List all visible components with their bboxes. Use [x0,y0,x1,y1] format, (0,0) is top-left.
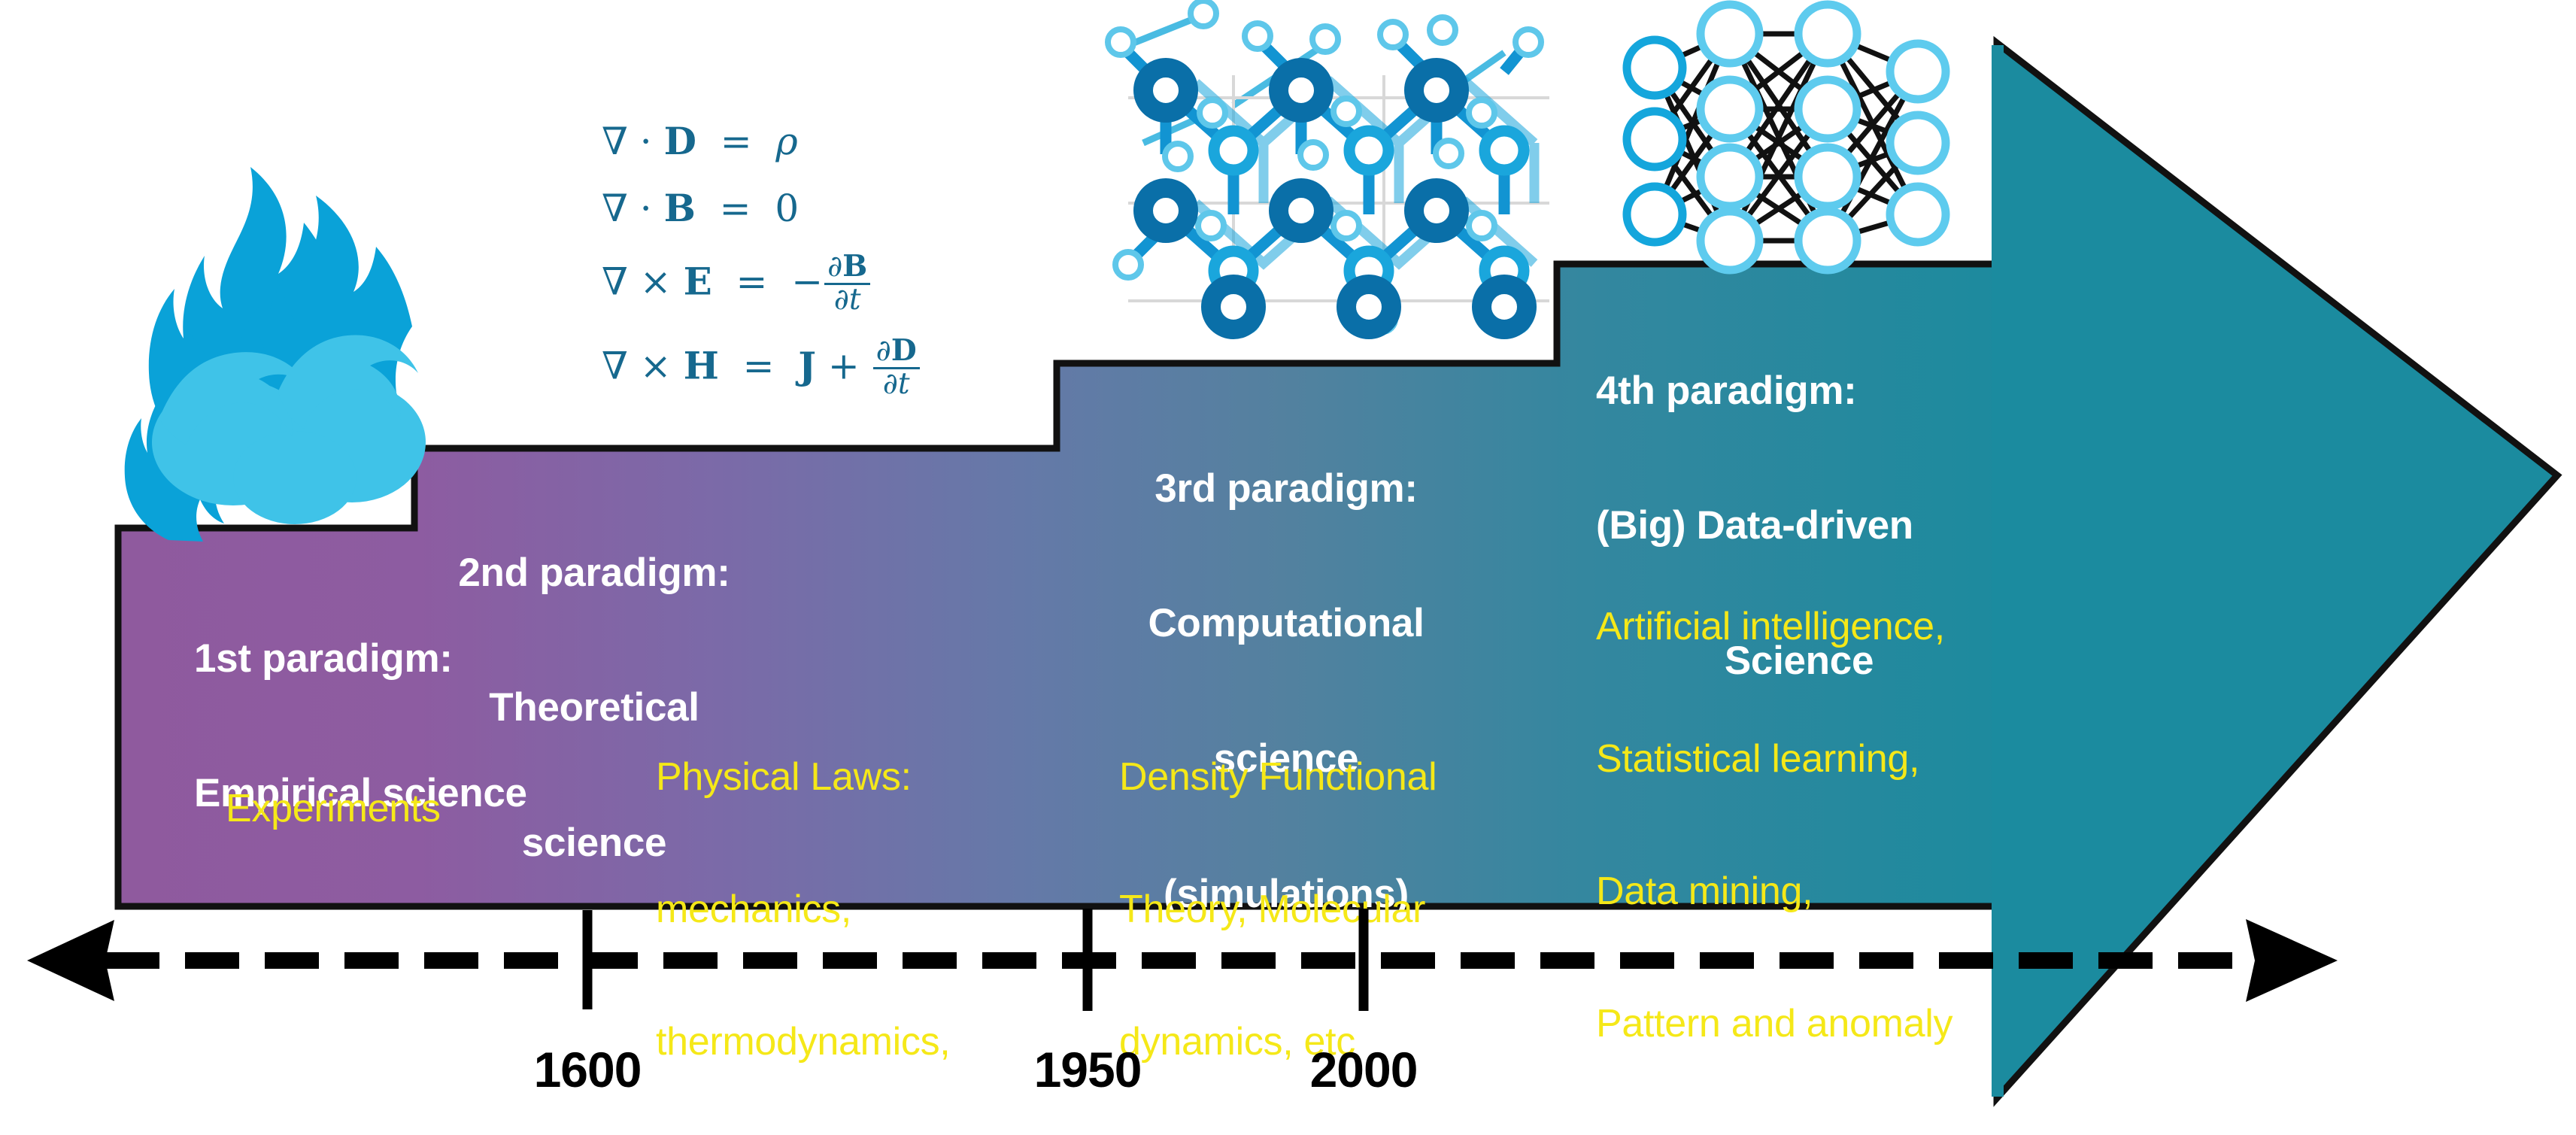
paradigm-2-body-line-1: Physical Laws: [656,755,1054,800]
paradigm-3-body-line-2: Theory, Molecular [1119,888,1548,932]
paradigm-4-body-line-3: Data mining, [1596,869,2092,914]
paradigm-3-title-line-2: Computational [1091,601,1482,646]
paradigm-4-body-line-1: Artificial intelligence, [1596,605,2092,649]
paradigm-2-body-line-3: thermodynamics, [656,1020,1054,1064]
tick-label-1600: 1600 [505,1042,670,1098]
paradigm-4-body-line-4: Pattern and anomaly [1596,1002,2092,1046]
paradigm-1-title-line-1: 1st paradigm: [194,636,472,681]
paradigm-4-body-line-2: Statistical learning, [1596,737,2092,781]
paradigm-3-body-line-1: Density Functional [1119,755,1548,800]
paradigm-4-title-line-1: 4th paradigm: [1596,369,2062,414]
tick-label-1950: 1950 [1005,1042,1170,1098]
paradigm-2-body: Physical Laws: mechanics, thermodynamics… [656,666,1054,1135]
paradigms-figure: ∇ · D = ρ ∇ · B = 0 ∇ × E = −∂B∂t ∇ × H … [0,0,2576,1135]
paradigm-3-title-line-1: 3rd paradigm: [1091,466,1482,511]
paradigm-2-body-line-2: mechanics, [656,888,1054,932]
paradigm-4-body: Artificial intelligence, Statistical lea… [1596,516,2092,1135]
paradigm-2-title-line-1: 2nd paradigm: [432,551,756,596]
tick-label-2000: 2000 [1281,1042,1446,1098]
